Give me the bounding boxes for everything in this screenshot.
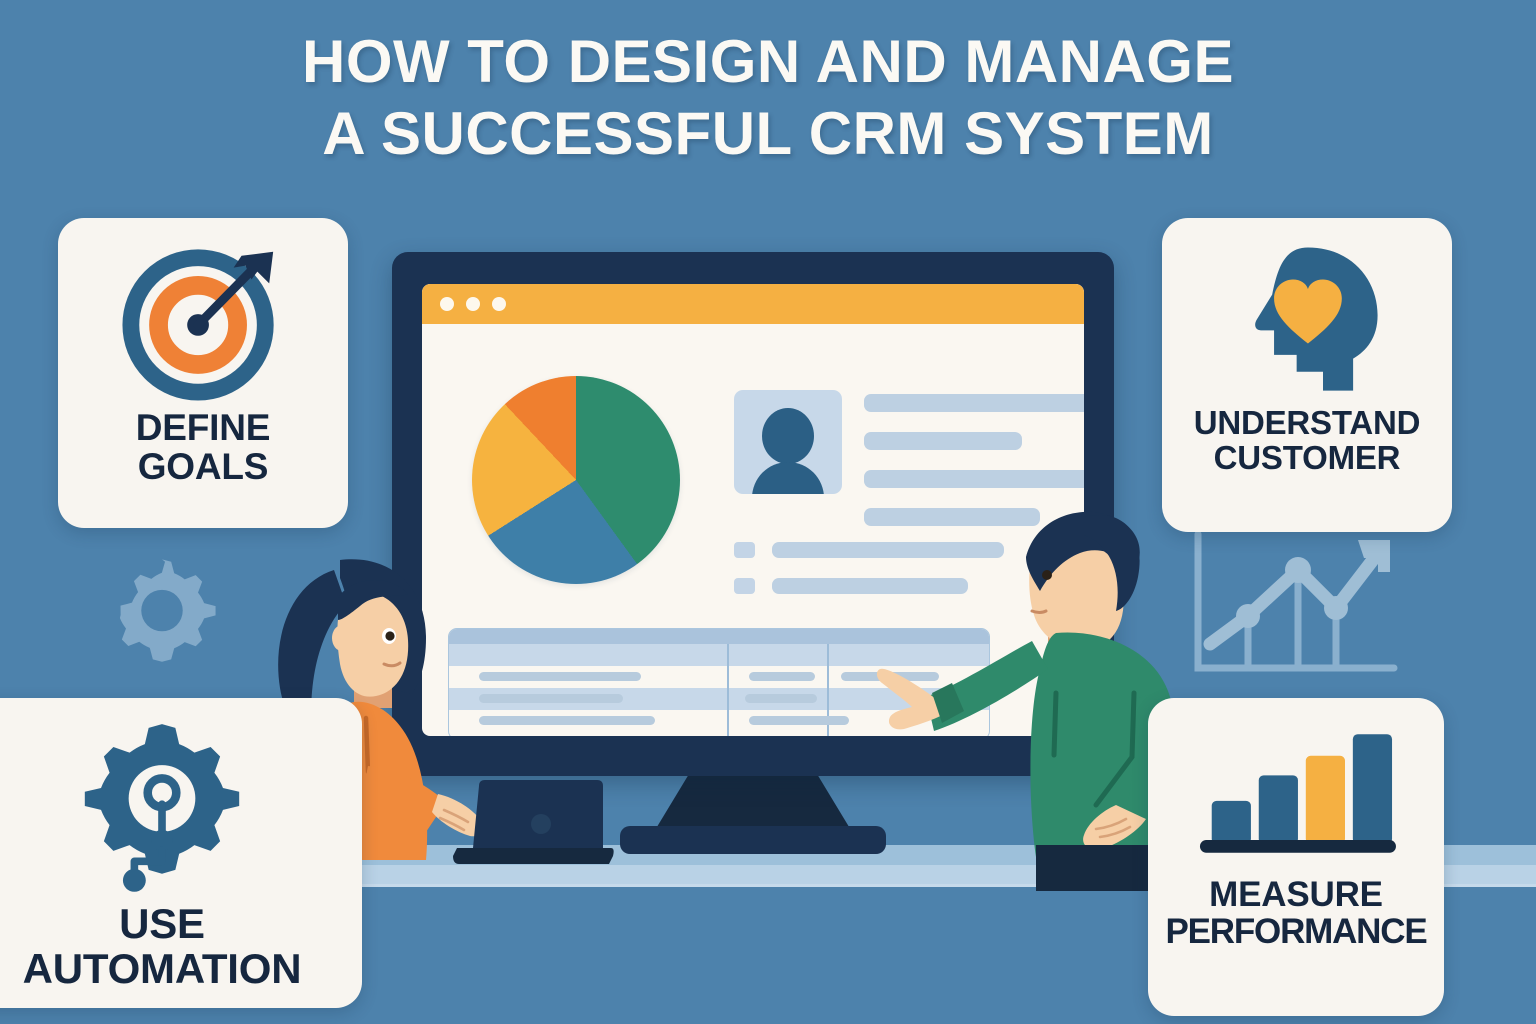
bar-1 (1212, 801, 1251, 844)
user-avatar-icon (734, 390, 842, 494)
gear-node-icon (81, 716, 243, 898)
card-label: Define Goals (136, 408, 270, 486)
window-title-bar (422, 284, 1084, 324)
table-cell-text (749, 716, 849, 725)
table-cell-text (749, 672, 815, 681)
target-icon (119, 236, 287, 404)
card-label-line-1: Measure (1166, 876, 1427, 913)
bar-baseline (1200, 840, 1396, 853)
detail-line (864, 470, 1084, 488)
card-label: Use Automation (23, 902, 302, 991)
card-label: Measure Performance (1166, 876, 1427, 950)
card-define-goals[interactable]: Define Goals (58, 218, 348, 528)
trending-up-icon (1186, 524, 1406, 688)
table-divider (727, 644, 729, 736)
detail-line (864, 432, 1022, 450)
card-label-line-2: Customer (1194, 441, 1421, 476)
card-label-line-2: Performance (1166, 913, 1427, 950)
bar-3 (1306, 756, 1345, 844)
gear-icon (96, 552, 228, 674)
card-label-line-1: Define (136, 408, 270, 447)
card-label: Understand Customer (1194, 406, 1421, 476)
checklist-box[interactable] (734, 542, 755, 558)
window-dot-minimize[interactable] (466, 297, 480, 311)
infographic-canvas: How to Design and Manage A Successful CR… (0, 0, 1536, 1024)
head-heart-icon (1227, 240, 1387, 400)
checklist-box[interactable] (734, 578, 755, 594)
bar-2 (1259, 775, 1298, 844)
laptop-icon (455, 780, 615, 868)
avatar-body (752, 462, 824, 494)
bar-4 (1353, 734, 1392, 844)
detail-line (864, 394, 1084, 412)
window-dot-maximize[interactable] (492, 297, 506, 311)
title-line-2: A Successful CRM System (0, 98, 1536, 170)
card-use-automation[interactable]: Use Automation (0, 698, 362, 1008)
bar-chart-icon (1198, 724, 1394, 862)
card-label-line-1: Understand (1194, 406, 1421, 441)
window-dot-close[interactable] (440, 297, 454, 311)
card-measure-performance[interactable]: Measure Performance (1148, 698, 1444, 1016)
card-understand-customer[interactable]: Understand Customer (1162, 218, 1452, 532)
card-label-line-2: Automation (23, 947, 302, 992)
page-title: How to Design and Manage A Successful CR… (0, 26, 1536, 170)
monitor-stand-base (620, 826, 886, 854)
card-label-line-2: Goals (136, 447, 270, 486)
title-line-1: How to Design and Manage (302, 28, 1234, 95)
avatar-head (762, 408, 814, 464)
table-cell-text (745, 694, 817, 703)
crm-pie-chart (472, 376, 680, 584)
card-label-line-1: Use (23, 902, 302, 947)
